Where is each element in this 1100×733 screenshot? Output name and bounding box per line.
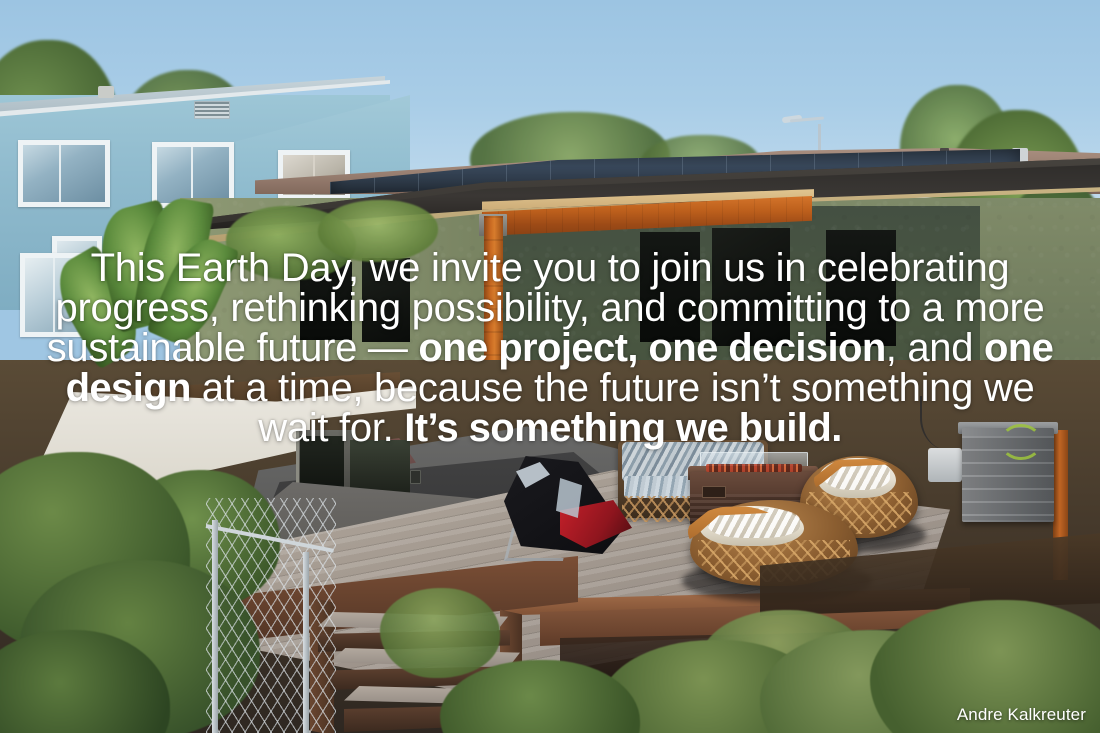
window-mullion [59,145,61,202]
towel-graphic-lower [556,478,582,518]
chain-link-fence [206,498,336,733]
hero-image: This Earth Day, we invite you to join us… [0,0,1100,733]
fire-pit-lava-rock [706,464,802,472]
headline-segment-5: It’s something we build. [404,406,841,450]
neighbor-window-upper-left [18,140,110,207]
headline-segment-1: one project, one decision [418,326,885,370]
headline-text: This Earth Day, we invite you to join us… [0,248,1100,448]
roof-vent-cap [98,86,114,98]
window-mullion [191,147,193,203]
shrub-center-deck [380,588,500,678]
headline-segment-2: , and [886,326,984,370]
fire-pit-control-panel [702,486,726,498]
gable-vent [194,101,230,119]
fence-post-right [303,552,309,733]
water-jugs [928,448,962,482]
fence-post-left [212,520,218,733]
photo-credit: Andre Kalkreuter [957,705,1086,725]
wall-switch-plate [410,470,421,484]
